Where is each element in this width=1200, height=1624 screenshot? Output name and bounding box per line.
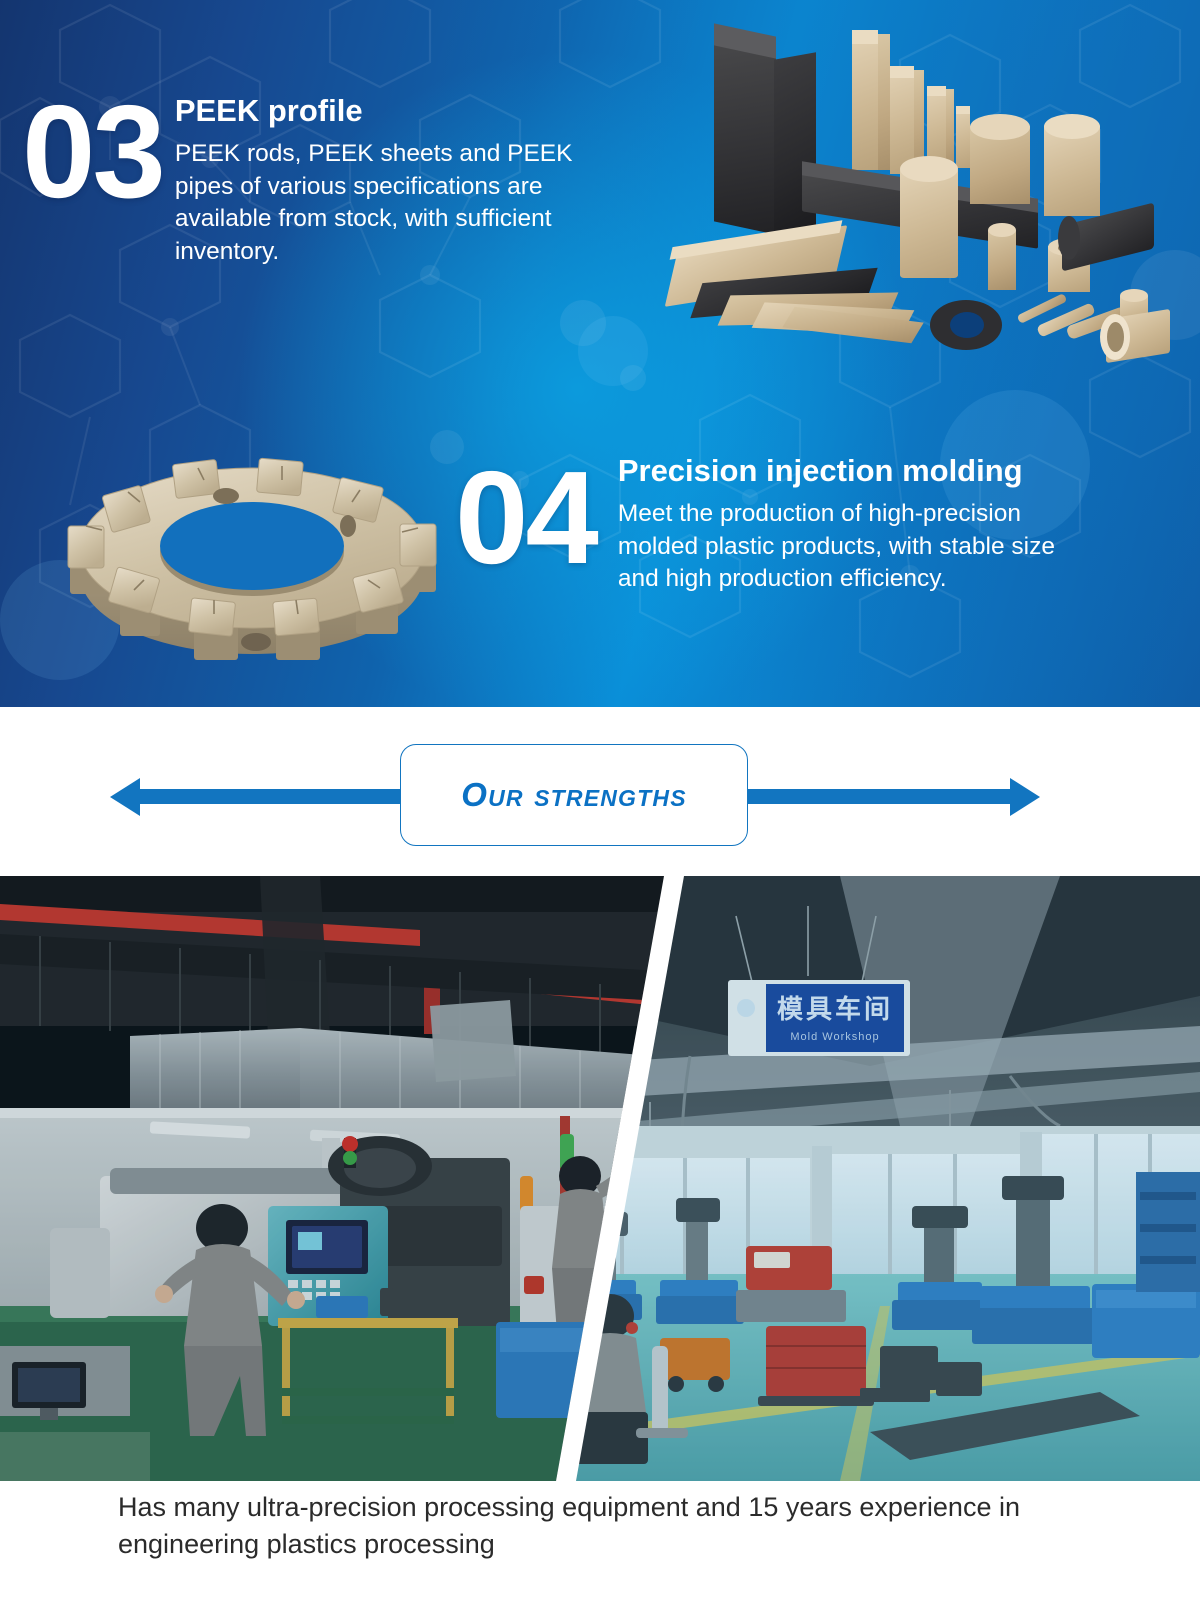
feature-title-03: PEEK profile: [175, 94, 605, 128]
strengths-label: Our strengths: [461, 776, 687, 814]
feature-title-04: Precision injection molding: [618, 454, 1088, 488]
factory-photo-gallery: 模具车间 Mold Workshop: [0, 876, 1200, 1481]
feature-number-04: 04: [455, 452, 596, 584]
hero-section: 03 PEEK profile PEEK rods, PEEK sheets a…: [0, 0, 1200, 707]
peek-gear-ring-product-image: [42, 398, 462, 673]
feature-body-03: PEEK rods, PEEK sheets and PEEK pipes of…: [175, 138, 605, 268]
peek-profile-product-image: [662, 18, 1192, 363]
product-marketing-page: 03 PEEK profile PEEK rods, PEEK sheets a…: [0, 0, 1200, 1624]
arrow-head-left-icon: [110, 778, 140, 816]
feature-number-03: 03: [22, 86, 163, 218]
gallery-caption: Has many ultra-precision processing equi…: [0, 1489, 1200, 1564]
feature-body-04: Meet the production of high-precision mo…: [618, 498, 1088, 596]
feature-block-04: 04 Precision injection molding Meet the …: [455, 442, 1088, 596]
arrow-head-right-icon: [1010, 778, 1040, 816]
feature-block-03: 03 PEEK profile PEEK rods, PEEK sheets a…: [22, 80, 605, 268]
strengths-label-box: Our strengths: [400, 744, 748, 846]
decorative-bubble: [578, 316, 648, 386]
